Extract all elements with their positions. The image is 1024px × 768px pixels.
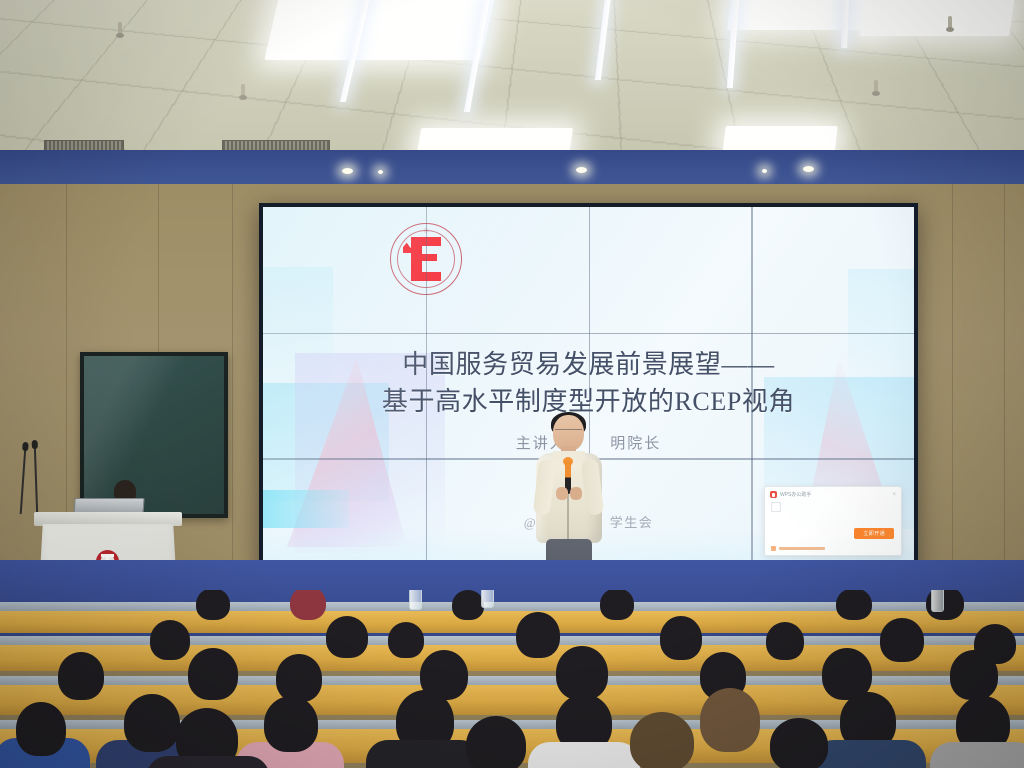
water-bottle xyxy=(481,590,494,608)
wps-popup-footer[interactable] xyxy=(771,546,825,551)
lecture-hall-scene: 中国服务贸易发展前景展望—— 基于高水平制度型开放的RCEP视角 主讲人： 明院… xyxy=(0,0,1024,768)
wall-panel-seam xyxy=(232,184,233,566)
wall-downlight xyxy=(378,170,383,174)
ceiling-sprinkler xyxy=(118,22,122,35)
ceiling-sprinkler xyxy=(948,16,952,29)
ceiling-sprinkler xyxy=(241,84,245,97)
audience-shoulders xyxy=(930,742,1024,768)
wps-logo-icon xyxy=(770,491,777,498)
audience-head xyxy=(950,650,998,700)
audience-head xyxy=(150,620,190,660)
wall-downlight xyxy=(342,168,353,174)
wps-popup-header: WPS办公助手 × xyxy=(765,487,901,500)
ceiling-panel-light xyxy=(727,0,883,30)
wps-footer-label xyxy=(779,547,825,550)
audience-shoulders xyxy=(528,742,640,768)
ceiling-sprinkler xyxy=(874,80,878,93)
presenter-left-hand xyxy=(556,487,568,500)
audience-head xyxy=(516,612,560,658)
audience-head xyxy=(58,652,104,700)
audience-head xyxy=(452,590,484,620)
videowall-seam-vertical xyxy=(751,207,753,584)
wall-downlight xyxy=(803,166,814,172)
wps-popup-body xyxy=(765,500,901,512)
ceiling-panel-light xyxy=(859,0,1015,36)
close-icon[interactable]: × xyxy=(892,492,896,498)
suspended-ceiling xyxy=(0,0,1024,152)
audience-head xyxy=(188,648,238,700)
water-bottle xyxy=(931,590,944,612)
lectern-top-surface xyxy=(34,512,182,526)
wall-downlight xyxy=(576,167,587,173)
audience-head xyxy=(16,702,66,756)
audience-head xyxy=(630,712,694,768)
upper-blue-wall-band xyxy=(0,150,1024,186)
chalkboard-glare xyxy=(84,356,224,514)
water-bottle xyxy=(409,590,422,610)
audience-shoulders xyxy=(812,740,926,768)
audience-head xyxy=(290,590,326,620)
audience-head xyxy=(660,616,702,660)
glasses-icon xyxy=(555,429,582,436)
audience-head xyxy=(700,688,760,752)
wps-office-popup[interactable]: WPS办公助手 × 立即开通 xyxy=(764,486,902,556)
audience-head xyxy=(556,646,608,700)
videowall-seam-vertical xyxy=(426,207,428,584)
audience-head xyxy=(196,590,230,620)
wall-downlight xyxy=(762,169,767,173)
audience-head xyxy=(836,590,872,620)
audience-head xyxy=(770,718,828,768)
wall-panel-seam xyxy=(1004,184,1005,566)
audience-head xyxy=(600,590,634,620)
audience-head xyxy=(264,696,318,752)
wps-upgrade-button[interactable]: 立即开通 xyxy=(854,528,894,539)
audience-head xyxy=(766,622,804,660)
ceiling-panel-light xyxy=(264,0,495,60)
audience-head xyxy=(388,622,424,658)
videowall-seam-horizontal xyxy=(263,333,914,335)
audience-shoulders xyxy=(366,740,482,768)
audience-head xyxy=(880,618,924,662)
chalkboard xyxy=(80,352,228,518)
audience-head xyxy=(326,616,368,658)
bell-icon xyxy=(771,546,776,551)
audience-head xyxy=(124,694,180,752)
document-icon xyxy=(771,502,781,512)
wall-panel-seam xyxy=(66,184,67,566)
audience-seating-area xyxy=(0,590,1024,768)
audience-head xyxy=(466,716,526,768)
wps-popup-title: WPS办公助手 xyxy=(780,491,811,498)
ceiling-panel-light xyxy=(415,128,573,152)
ceiling-panel-light xyxy=(722,126,838,152)
audience-shoulders xyxy=(146,756,270,768)
audience-head xyxy=(276,654,322,702)
presenter-right-hand xyxy=(570,487,582,500)
wps-popup-text xyxy=(785,501,895,512)
wall-panel-seam xyxy=(952,184,953,566)
